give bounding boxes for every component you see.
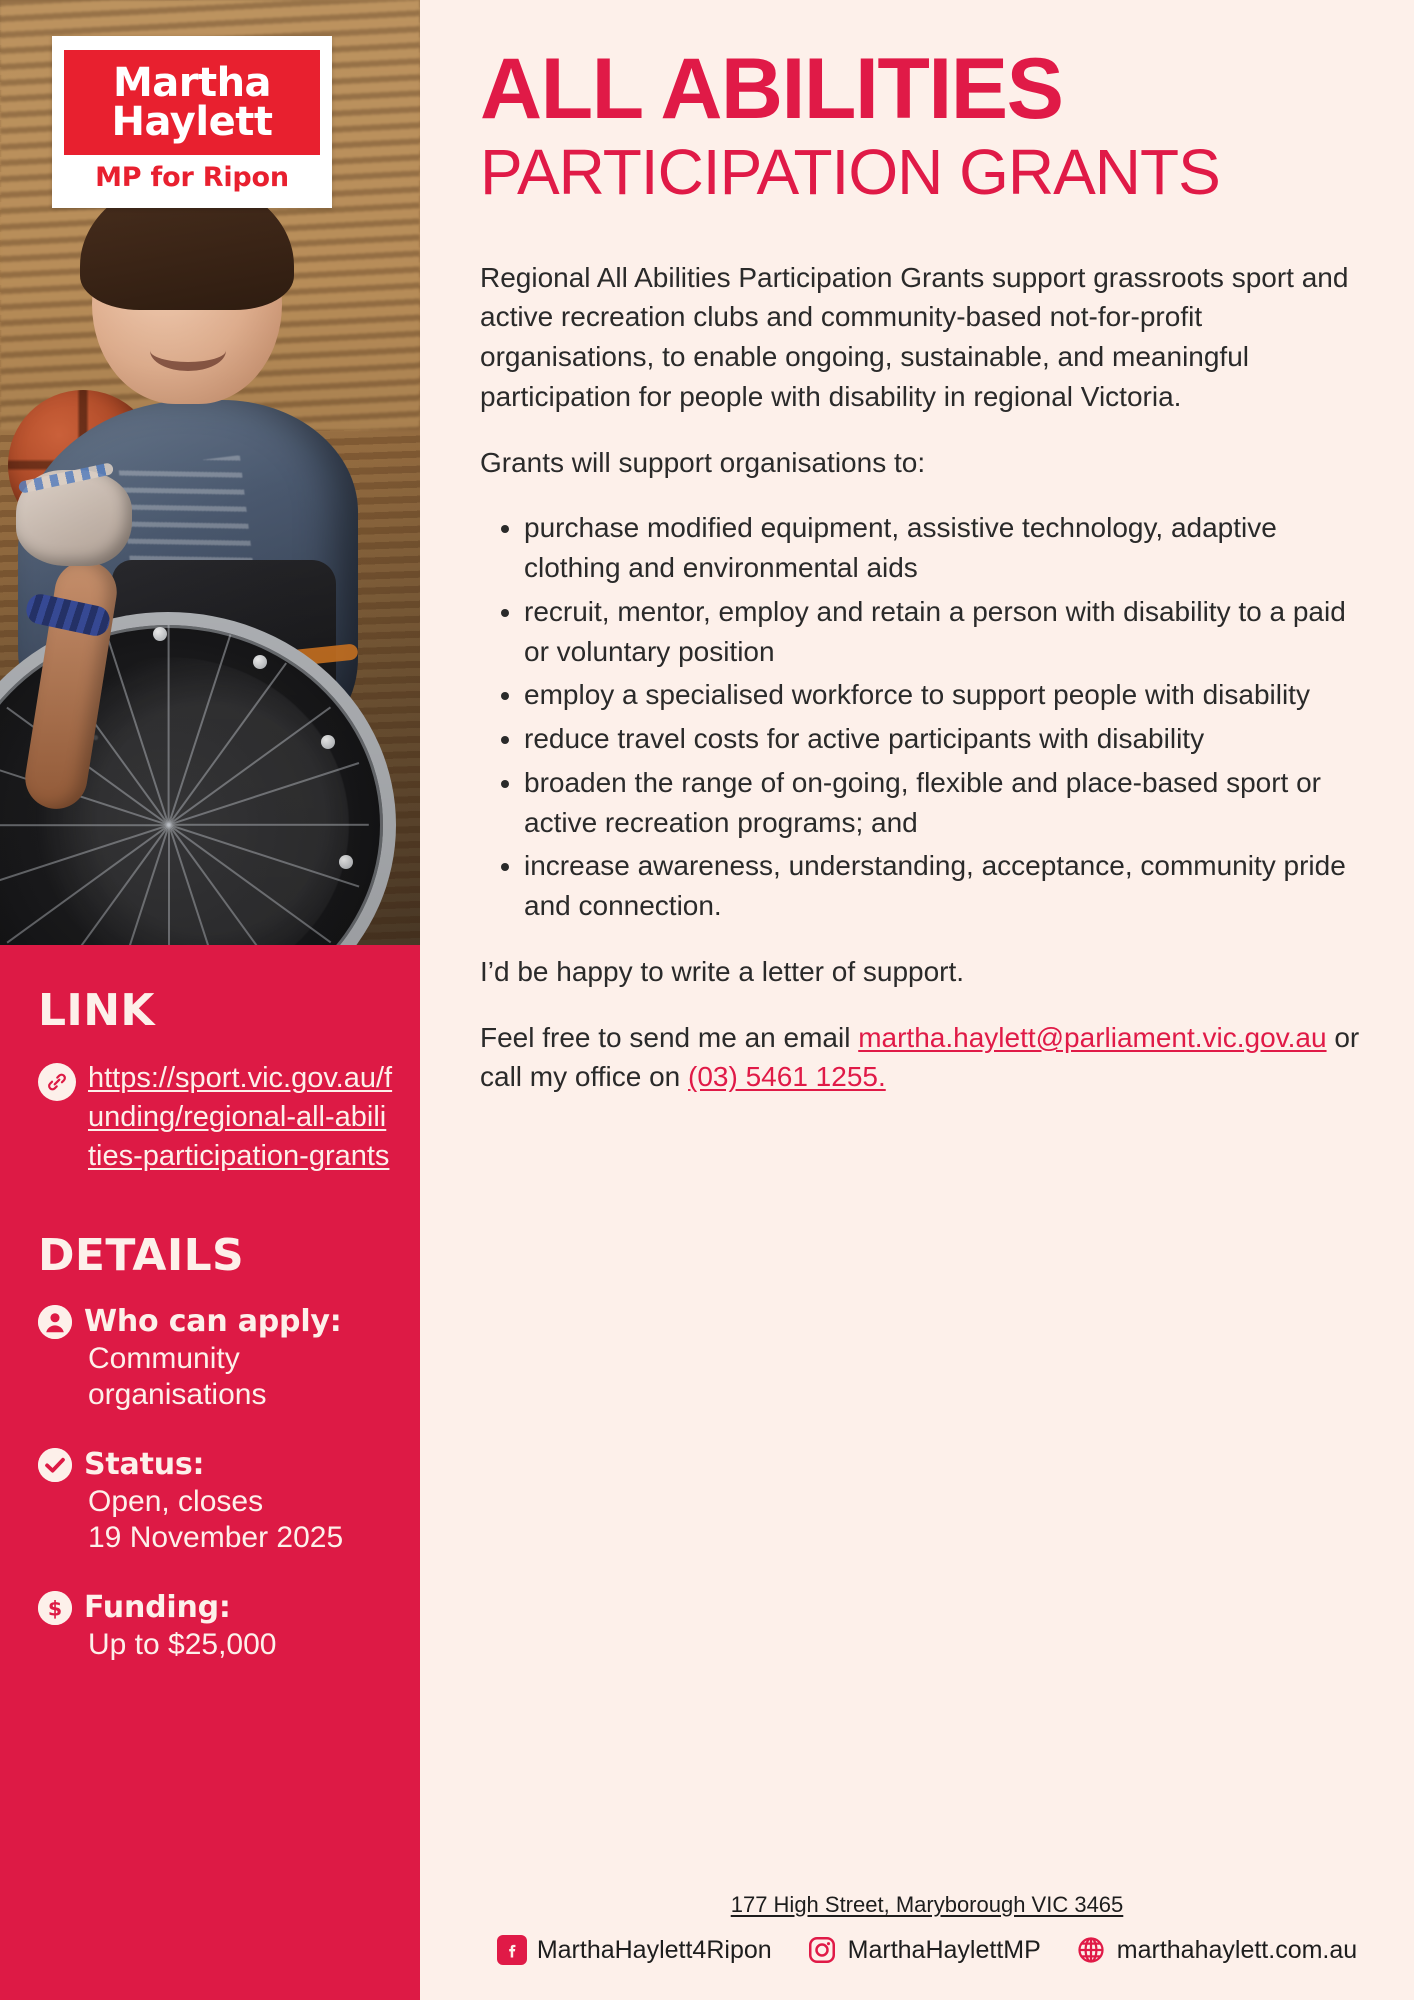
detail-head: $ Funding: — [38, 1590, 394, 1625]
contact-prefix: Feel free to send me an email — [480, 1022, 858, 1053]
list-item: purchase modified equipment, assistive t… — [524, 508, 1362, 588]
detail-status: Status: Open, closes 19 November 2025 — [38, 1447, 394, 1556]
person-icon — [38, 1305, 72, 1339]
chain-link-icon — [38, 1063, 76, 1101]
detail-label: Funding: — [84, 1590, 231, 1625]
grant-uses-list: purchase modified equipment, assistive t… — [480, 508, 1362, 926]
sidebar: LINK https://sport.vic.gov.au/funding/re… — [0, 945, 420, 2000]
intro-paragraph: Regional All Abilities Participation Gra… — [480, 258, 1362, 417]
logo: Martha Haylett MP for Ripon — [52, 36, 332, 208]
page-title-line-2: PARTICIPATION GRANTS — [480, 139, 1362, 206]
detail-value: Community organisations — [88, 1341, 394, 1413]
detail-label: Status: — [84, 1447, 204, 1482]
svg-text:$: $ — [48, 1597, 62, 1621]
details-heading: DETAILS — [38, 1234, 394, 1278]
list-item: recruit, mentor, employ and retain a per… — [524, 592, 1362, 672]
lead-in-paragraph: Grants will support organisations to: — [480, 443, 1362, 483]
list-item: increase awareness, understanding, accep… — [524, 846, 1362, 926]
detail-label: Who can apply: — [84, 1304, 342, 1339]
logo-subtitle: MP for Ripon — [64, 162, 320, 193]
left-column: Martha Haylett MP for Ripon LINK — [0, 0, 420, 2000]
contact-paragraph: Feel free to send me an email martha.hay… — [480, 1018, 1362, 1098]
link-heading: LINK — [38, 989, 394, 1033]
instagram-handle[interactable]: MarthaHaylettMP — [848, 1936, 1041, 1965]
logo-red-block: Martha Haylett — [64, 50, 320, 155]
detail-head: Who can apply: — [38, 1304, 394, 1339]
check-circle-icon — [38, 1448, 72, 1482]
facebook-handle[interactable]: MarthaHaylett4Ripon — [537, 1936, 772, 1965]
footer: 177 High Street, Maryborough VIC 3465 Ma… — [420, 1892, 1414, 1966]
social-links: MarthaHaylett4Ripon MarthaHaylettMP — [480, 1934, 1374, 1966]
grant-link[interactable]: https://sport.vic.gov.au/funding/regiona… — [88, 1059, 394, 1176]
logo-line-2: Haylett — [112, 103, 273, 141]
list-item: reduce travel costs for active participa… — [524, 719, 1362, 759]
globe-icon[interactable] — [1075, 1934, 1107, 1966]
body-copy: Regional All Abilities Participation Gra… — [480, 258, 1362, 1098]
office-address: 177 High Street, Maryborough VIC 3465 — [480, 1892, 1374, 1918]
list-item: broaden the range of on-going, flexible … — [524, 763, 1362, 843]
list-item: employ a specialised workforce to suppor… — [524, 675, 1362, 715]
facebook-icon[interactable] — [497, 1935, 527, 1965]
letter-of-support-text: I’d be happy to write a letter of suppor… — [480, 952, 1362, 992]
email-link[interactable]: martha.haylett@parliament.vic.gov.au — [858, 1022, 1326, 1053]
detail-value: Up to $25,000 — [88, 1627, 394, 1663]
website-url[interactable]: marthahaylett.com.au — [1117, 1936, 1357, 1965]
spacer — [480, 930, 1362, 952]
detail-who-can-apply: Who can apply: Community organisations — [38, 1304, 394, 1413]
dollar-icon: $ — [38, 1591, 72, 1625]
main-content: ALL ABILITIES PARTICIPATION GRANTS Regio… — [420, 0, 1414, 2000]
instagram-icon[interactable] — [806, 1934, 838, 1966]
detail-funding: $ Funding: Up to $25,000 — [38, 1590, 394, 1663]
phone-link[interactable]: (03) 5461 1255. — [688, 1061, 886, 1092]
hero-photo: Martha Haylett MP for Ripon — [0, 0, 420, 945]
detail-value: Open, closes 19 November 2025 — [88, 1484, 394, 1556]
poster: Martha Haylett MP for Ripon LINK — [0, 0, 1414, 2000]
link-row[interactable]: https://sport.vic.gov.au/funding/regiona… — [38, 1059, 394, 1176]
detail-head: Status: — [38, 1447, 394, 1482]
page-title-line-1: ALL ABILITIES — [480, 48, 1362, 131]
logo-line-1: Martha — [113, 64, 271, 102]
